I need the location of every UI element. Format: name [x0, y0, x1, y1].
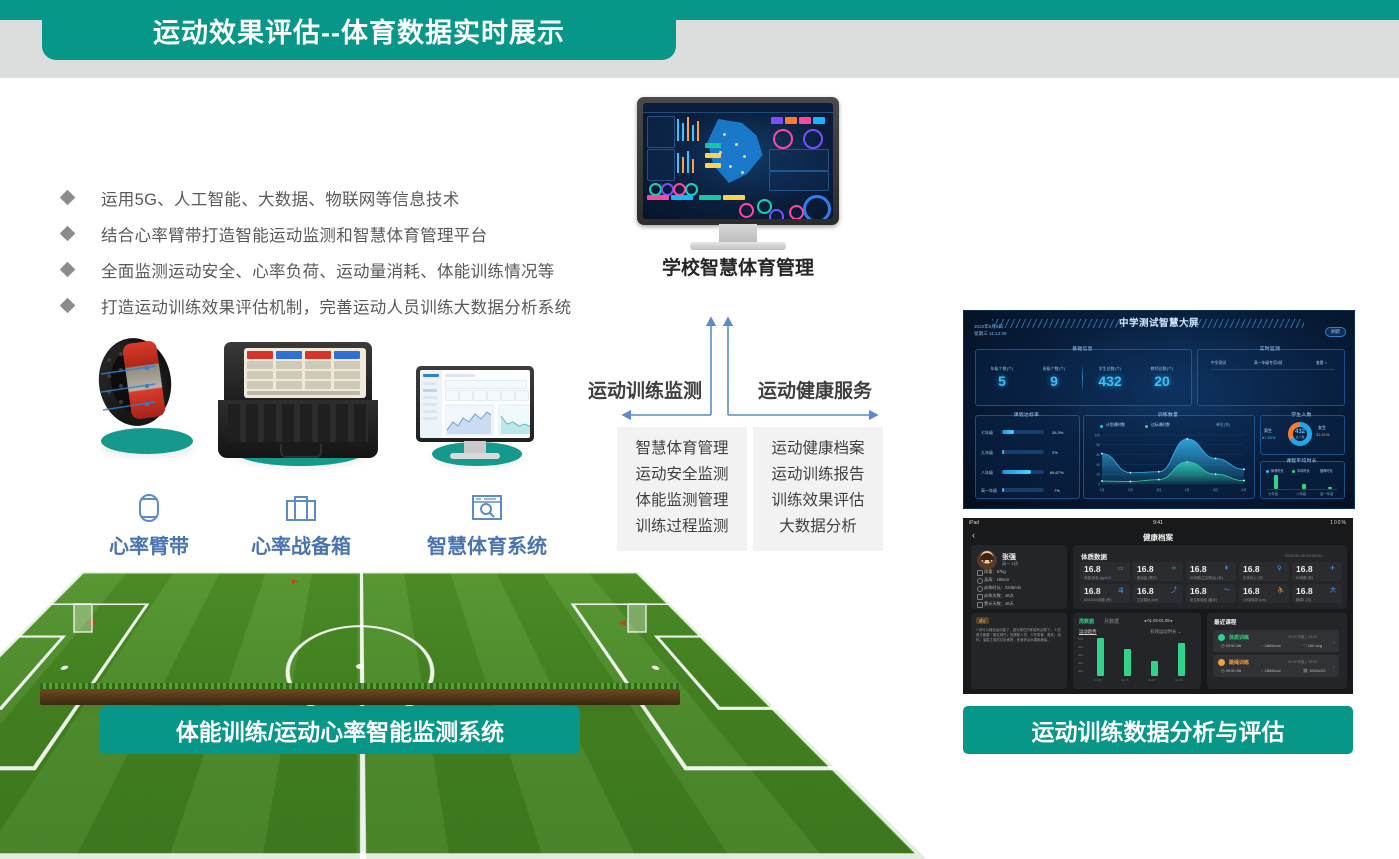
metric-label: 体重/身高 (kg/m2)	[1084, 575, 1111, 580]
device-label-briefcase: 心率战备箱	[241, 530, 361, 559]
metric-value: 16.8	[1137, 564, 1154, 574]
page-title: 运动效果评估--体育数据实时展示	[153, 11, 565, 50]
run-icon: ⇞	[1224, 566, 1229, 572]
gauge-track	[1002, 450, 1044, 454]
list-item: 全面监测运动安全、心率负荷、运动量消耗、体能训练情况等	[62, 254, 662, 285]
gauge-value: 28.3%	[1052, 430, 1063, 435]
advice-tag: 建议	[976, 617, 989, 624]
diamond-bullet-icon	[60, 226, 76, 242]
display-cell	[305, 371, 331, 379]
avatar-hair	[980, 553, 994, 560]
trend-bar	[1124, 649, 1131, 676]
y-tick: 500	[1078, 637, 1083, 641]
pc-nav-row	[423, 403, 437, 406]
flow-item[interactable]: 训练效果评估	[753, 488, 883, 514]
stat-label: 教师总数(个)	[1138, 366, 1186, 372]
course-extra: ⛓ 1602k/52	[1303, 668, 1326, 673]
mini-panel	[769, 149, 829, 171]
flow-item[interactable]: 体能监测管理	[617, 488, 747, 514]
legend-marker	[1145, 425, 1148, 428]
realtime-item: 高一年级专用3班	[1254, 361, 1283, 366]
course-name: 跳绳训练	[1229, 659, 1249, 666]
avgtime-bar	[1274, 475, 1278, 489]
bullet-text: 结合心率臂带打造智能运动监测和智慧体育管理平台	[101, 222, 487, 246]
training-chart-title: 训练数量	[1083, 411, 1253, 418]
svg-text:4月: 4月	[1185, 488, 1190, 492]
y-tick: 500	[1078, 645, 1083, 649]
mini-chip	[647, 195, 669, 200]
profile-metric: 训练次数：46次	[984, 593, 1014, 599]
calendar-icon	[977, 602, 983, 608]
section-timestamp: 2020.09.20 09:00:00	[1285, 553, 1322, 558]
svg-text:2月: 2月	[1128, 488, 1133, 492]
gauge-fill	[1002, 488, 1004, 492]
trend-metric-selector[interactable]: 有效运动时长 ⌄	[1150, 629, 1181, 635]
chart-unit: 单位(节)	[1216, 423, 1230, 428]
legend-label: 达标课时数	[1151, 423, 1170, 428]
jump-icon: ⤴	[1171, 588, 1177, 594]
gauge-value: 66.67%	[1050, 470, 1064, 475]
display-cell	[276, 351, 302, 359]
section-title: 体质数据	[1081, 551, 1107, 561]
mini-chip	[705, 143, 721, 148]
mini-chip	[705, 153, 721, 158]
gauge-fill	[1002, 470, 1031, 474]
monitor-stand-base	[690, 242, 786, 250]
student-class: 高一 1班	[1002, 561, 1018, 567]
avgtime-cat: 八年级	[1296, 491, 1306, 496]
mini-dashboard-topbar	[643, 103, 833, 113]
course-duration: ◷ 00:50:56	[1221, 643, 1241, 648]
profile-metric: 身高：165cm	[984, 577, 1009, 583]
metric-value: 16.8	[1084, 586, 1101, 596]
pc-kpi	[501, 390, 515, 401]
endurance-icon: ⇶	[1118, 588, 1123, 594]
pc-stand-base	[450, 453, 500, 459]
refresh-button[interactable]: 刷新	[1325, 327, 1346, 337]
metric-label: 50米跑 (秒)	[1296, 575, 1313, 580]
overview-panel-title: 基础信息	[975, 345, 1190, 352]
monitor-caption: 学校智慧体育管理	[637, 253, 839, 280]
tab-weekly[interactable]: 周数据	[1079, 618, 1094, 625]
display-cell	[276, 361, 302, 369]
briefcase-icon	[281, 488, 321, 528]
legend-label: 推荐时长	[1320, 468, 1333, 473]
gauge-track	[1002, 488, 1044, 492]
flow-item[interactable]: 训练过程监测	[617, 514, 747, 540]
device-label-armband: 心率臂带	[99, 530, 199, 559]
monitor-bezel	[637, 97, 839, 225]
briefcase-display	[244, 348, 366, 398]
mini-panel	[647, 116, 675, 148]
legend-label: 平均时长	[1297, 468, 1310, 473]
legend-label: 体育时长	[1271, 468, 1284, 473]
metric-value: 16.8	[1190, 564, 1207, 574]
mini-bar	[682, 123, 684, 141]
svg-text:1月: 1月	[1100, 488, 1105, 492]
briefcase-handle[interactable]	[280, 444, 322, 458]
realtime-panel-title: 实时监测	[1197, 345, 1343, 352]
course-name: 体质训练	[1229, 634, 1249, 641]
metric-value: 16.8	[1243, 564, 1260, 574]
flow-item[interactable]: 运动健康档案	[753, 436, 883, 462]
display-cell	[247, 351, 273, 359]
avatar-eye	[983, 560, 985, 562]
bullet-text: 打造运动训练效果评估机制，完善运动人员训练大数据分析系统	[101, 294, 571, 318]
pc-nav-row	[423, 374, 439, 377]
stat-divider	[1082, 363, 1083, 393]
flow-column-health-service: 运动健康档案 运动训练报告 训练效果评估 大数据分析	[753, 427, 883, 551]
advice-text: 1.你可以增加运动量了，因为现在的体能有点弱了。 2.饮食方面要「管住嘴巴」的搭…	[976, 628, 1062, 644]
football-field-illustration	[30, 560, 690, 710]
status-indicators: 100%	[1330, 520, 1347, 526]
male-label: 男生	[1264, 428, 1272, 434]
y-tick: 500	[1078, 661, 1083, 665]
ipad-health-record: iPad 9:41 100% ‹ 健康档案 张强 高一 1班 体重：67kg 身…	[963, 518, 1353, 694]
pc-search-bar	[445, 380, 527, 389]
page-title: 健康档案	[963, 532, 1353, 543]
flex-icon: 〜	[1224, 588, 1230, 594]
course-calories: ◌ 2860kcal	[1261, 668, 1281, 673]
mini-chip	[799, 117, 811, 124]
device-pc-system	[410, 362, 544, 466]
display-cell	[334, 361, 360, 369]
diamond-bullet-icon	[60, 262, 76, 278]
mini-bar	[697, 121, 699, 141]
svg-text:20: 20	[1096, 473, 1100, 477]
legend-marker	[1266, 470, 1269, 473]
gauge-value: 2%	[1052, 450, 1058, 455]
rope-icon: 大	[1330, 588, 1336, 594]
armband-wire-overlay	[85, 330, 215, 460]
stat-value: 432	[1086, 373, 1134, 389]
pc-nav-row	[423, 389, 437, 392]
avatar-eye	[989, 560, 991, 562]
profile-metric: 训练时长：2345min	[984, 585, 1021, 591]
diamond-bullet-icon	[60, 298, 76, 314]
pc-kpi	[445, 390, 459, 401]
mini-ring-icon	[789, 205, 804, 219]
mini-bar	[692, 125, 694, 141]
display-cell	[247, 361, 273, 369]
students-panel-title: 学生人数	[1260, 411, 1343, 418]
realtime-item: 中学测试	[1211, 361, 1226, 366]
bullet-text: 全面监测运动安全、心率负荷、运动量消耗、体能训练情况等	[101, 258, 555, 282]
courses-title: 最近课程	[1214, 618, 1236, 626]
flow-item[interactable]: 大数据分析	[753, 514, 883, 540]
course-date: 06.09 早晨上 09:30	[1288, 659, 1317, 664]
pc-kpi	[459, 390, 473, 401]
bigscreen-dashboard: 中学测试智慧大屏 2022年6月8日 星期三 11:14:29 刷新 基础信息 …	[963, 310, 1355, 509]
mini-bar	[677, 119, 679, 141]
device-showcase: 心率臂带 心率战备箱 智慧体育系统	[85, 330, 605, 560]
gauge-label: 高一年级	[981, 488, 997, 494]
device-briefcase	[218, 342, 390, 468]
briefcase-lid	[224, 342, 372, 404]
pc-nav-row	[423, 417, 437, 420]
mini-panel	[769, 171, 829, 191]
profile-metric: 体重：67kg	[984, 569, 1006, 575]
pc-bezel	[416, 366, 534, 442]
x-tick: 01.07	[1148, 678, 1156, 682]
flow-label-health-service: 运动健康服务	[758, 376, 872, 403]
gauge-fill	[1002, 430, 1014, 434]
flow-item[interactable]: 运动安全监测	[617, 462, 747, 488]
legend-label: 计划课时数	[1106, 423, 1125, 428]
realtime-link[interactable]: 查看 >	[1316, 361, 1327, 366]
advice-card	[971, 613, 1067, 689]
trend-metric-label: 有效运动时长	[1150, 629, 1176, 634]
course-date: 06.09 早晨上 09:30	[1288, 634, 1317, 639]
metric-label: 50米跑(立定跳远) (秒)	[1190, 575, 1223, 580]
trend-bar	[1097, 638, 1104, 676]
y-tick: 500	[1078, 653, 1083, 657]
watch-icon	[129, 488, 169, 528]
metric-value: 16.8	[1137, 586, 1154, 596]
metric-label: 跳绳1 (次)	[1296, 597, 1311, 602]
display-cell	[276, 381, 302, 389]
display-cell	[276, 371, 302, 379]
svg-text:3月: 3月	[1156, 488, 1161, 492]
metric-label: 肺活量 (毫升)	[1137, 575, 1157, 580]
pc-kpi	[487, 390, 501, 401]
avgtime-axis	[1267, 489, 1337, 490]
display-cell	[305, 351, 331, 359]
legend-marker	[1292, 470, 1295, 473]
flow-diagram: 运动训练监测 运动健康服务 智慧体育管理 运动安全监测 体能监测管理 训练过程监…	[575, 300, 895, 560]
stat-label: 学生总数(个)	[1086, 366, 1134, 372]
mini-ring-icon	[773, 129, 793, 149]
banner-left: 体能训练/运动心率智能监测系统	[100, 706, 580, 754]
mini-chip	[813, 117, 825, 124]
mini-ring-icon	[803, 129, 823, 149]
mini-panel	[647, 149, 675, 181]
male-value: 67.59%	[1262, 435, 1276, 440]
students-total-label: 总人数	[1295, 435, 1304, 439]
metric-label: 立定跳远 (cm)	[1137, 597, 1158, 602]
svg-text:5月: 5月	[1213, 488, 1218, 492]
pc-charts	[445, 402, 530, 436]
svg-text:100: 100	[1095, 433, 1101, 437]
pc-nav-row	[423, 396, 437, 399]
female-label: 女生	[1318, 425, 1326, 431]
course-extra: ♡ 160 avg	[1303, 643, 1322, 648]
tab-monthly[interactable]: 月数据	[1104, 618, 1119, 625]
date-range-text: 01.03-01.09	[1147, 618, 1169, 623]
avgtime-cat: 高一年级	[1320, 491, 1334, 496]
flow-label-training-monitor: 运动训练监测	[588, 376, 702, 403]
gauge-panel-title: 课程达标率	[975, 411, 1078, 418]
mini-ring-icon	[769, 209, 784, 219]
female-value: 32.41%	[1316, 432, 1330, 437]
trend-bar	[1151, 661, 1158, 676]
gauge-label: 九年级	[981, 450, 993, 456]
mini-chip	[671, 195, 693, 200]
display-cell	[247, 371, 273, 379]
svg-text:80: 80	[1096, 443, 1100, 447]
map-pin-icon	[741, 171, 744, 174]
stat-label: 班级个数(个)	[1030, 366, 1078, 372]
stat-label: 年级个数(个)	[978, 366, 1026, 372]
avgtime-panel-title: 课程平均时长	[1260, 457, 1343, 464]
map-pin-icon	[723, 133, 726, 136]
display-cell	[334, 351, 360, 359]
mini-chip	[785, 117, 797, 124]
mini-bar	[677, 153, 679, 173]
metric-label: 坐位体前屈 (厘米)	[1190, 597, 1217, 602]
svg-text:0: 0	[1098, 482, 1100, 486]
pc-screen	[420, 370, 530, 438]
gauge-value: 7%	[1054, 488, 1060, 493]
date-range[interactable]: ◂ 01.03-01.09 ▸	[1144, 618, 1173, 623]
ipad-status-bar: iPad 9:41 100%	[963, 518, 1353, 529]
metric-value: 16.8	[1243, 586, 1260, 596]
list-item: 运用5G、人工智能、大数据、物联网等信息技术	[62, 182, 662, 213]
display-cell	[305, 361, 331, 369]
display-cell	[247, 381, 273, 389]
diamond-bullet-icon	[60, 190, 76, 206]
gauge-panel	[975, 415, 1080, 499]
x-tick: 01.05	[1121, 678, 1129, 682]
display-cell	[334, 371, 360, 379]
bigscreen-title: 中学测试智慧大屏	[964, 315, 1354, 329]
y-tick: 500	[1078, 669, 1083, 673]
avatar	[977, 550, 997, 570]
x-tick: 01.09	[1175, 678, 1183, 682]
trend-bar	[1178, 643, 1185, 676]
banner-right: 运动训练数据分析与评估	[963, 706, 1353, 754]
bigscreen-date: 2022年6月8日	[974, 323, 1003, 330]
gender-donut-center: 432 总人数	[1293, 427, 1307, 441]
school-management-monitor	[637, 97, 839, 247]
lung-icon: ♾	[1171, 566, 1176, 572]
pc-breadcrumb	[445, 374, 475, 377]
mini-chip	[705, 163, 721, 168]
device-armband	[85, 330, 215, 460]
weight-icon	[977, 570, 983, 576]
course-calories: ◌ 2860kcal	[1261, 643, 1281, 648]
course-dot-icon	[1218, 659, 1225, 666]
counter-icon	[977, 594, 983, 600]
mini-chip	[699, 195, 721, 200]
map-pin-icon	[735, 143, 738, 146]
metric-label: 800/1000米跑 (秒)	[1084, 597, 1112, 602]
situp-icon: ⛹	[1277, 588, 1284, 594]
pc-kpi	[515, 390, 529, 401]
flow-arrows	[575, 300, 895, 430]
course-duration: ◷ 00:50:56	[1221, 668, 1241, 673]
banner-right-text: 运动训练数据分析与评估	[1032, 713, 1285, 747]
flow-column-training-monitor: 智慧体育管理 运动安全监测 体能监测管理 训练过程监测	[617, 427, 747, 551]
center-spot	[356, 664, 364, 669]
legend-marker	[1100, 425, 1103, 428]
height-icon	[977, 578, 983, 584]
list-item: 结合心率臂带打造智能运动监测和智慧体育管理平台	[62, 218, 662, 249]
flow-item[interactable]: 智慧体育管理	[617, 436, 747, 462]
display-cell	[247, 391, 360, 395]
course-dot-icon	[1218, 634, 1225, 641]
svg-text:60: 60	[1096, 453, 1100, 457]
scale-icon: ▭	[1118, 566, 1124, 572]
list-item: 打造运动训练效果评估机制，完善运动人员训练大数据分析系统	[62, 290, 662, 321]
gauge-label: 七年级	[981, 430, 993, 436]
pc-nav-row	[423, 382, 437, 385]
display-cell	[305, 381, 331, 389]
profile-metric: 累计天数：46天	[984, 601, 1014, 607]
metric-value: 16.8	[1084, 564, 1101, 574]
device-label-system: 智慧体育系统	[415, 530, 559, 559]
stat-value: 9	[1030, 373, 1078, 389]
status-clock: 9:41	[963, 520, 1353, 526]
bigscreen-time: 星期三 11:14:29	[974, 330, 1007, 337]
flow-item[interactable]: 运动训练报告	[753, 462, 883, 488]
monitor-screen	[643, 103, 833, 219]
pc-kpi	[473, 390, 487, 401]
mini-map	[705, 119, 765, 183]
mini-bar	[687, 117, 689, 141]
mini-bar	[692, 159, 694, 173]
training-area-chart: 0204060801001月2月3月4月5月6月	[1088, 431, 1248, 493]
pullup-icon: ⚲	[1277, 566, 1281, 572]
avgtime-bar	[1328, 487, 1332, 489]
avgtime-cat: 七年级	[1268, 491, 1278, 496]
chevron-right-icon[interactable]: ›	[1333, 665, 1335, 671]
gauge-fill	[1002, 450, 1004, 454]
mini-bar	[687, 151, 689, 173]
pc-nav-row	[423, 410, 437, 413]
map-pin-icon	[729, 165, 732, 168]
chevron-right-icon[interactable]: ›	[1333, 640, 1335, 646]
mini-bar	[682, 157, 684, 173]
mini-ring-icon	[803, 195, 831, 219]
metric-value: 16.8	[1296, 586, 1313, 596]
svg-text:6月: 6月	[1242, 488, 1247, 492]
mini-chip	[771, 117, 783, 124]
sprint-icon: ✈	[1330, 566, 1335, 572]
feature-bullet-list: 运用5G、人工智能、大数据、物联网等信息技术 结合心率臂带打造智能运动监测和智慧…	[62, 182, 662, 326]
clock-icon	[977, 586, 983, 592]
metric-value: 16.8	[1296, 564, 1313, 574]
bullet-text: 运用5G、人工智能、大数据、物联网等信息技术	[101, 186, 460, 210]
x-tick: 01.03	[1094, 678, 1102, 682]
realtime-panel	[1197, 349, 1345, 406]
mini-ring-icon	[739, 203, 754, 218]
map-pin-icon	[743, 155, 746, 158]
briefcase-device-tray	[228, 404, 368, 442]
avgtime-bar	[1302, 484, 1306, 489]
banner-left-text: 体能训练/运动心率智能监测系统	[176, 713, 504, 747]
mini-chip	[723, 195, 745, 200]
display-cell	[334, 381, 360, 389]
metric-label: 引体向上 (次)	[1243, 575, 1263, 580]
metric-value: 16.8	[1190, 586, 1207, 596]
svg-text:40: 40	[1096, 463, 1100, 467]
stat-value: 20	[1138, 373, 1186, 389]
realtime-rule	[1211, 369, 1335, 370]
page-title-pill: 运动效果评估--体育数据实时展示	[42, 0, 676, 60]
gauge-label: 八年级	[981, 470, 993, 476]
trend-title: 运动趋势	[1079, 629, 1097, 635]
stat-value: 5	[978, 373, 1026, 389]
monitor-search-icon	[467, 488, 507, 528]
metric-label: 1分钟仰卧 (cm)	[1243, 597, 1266, 602]
